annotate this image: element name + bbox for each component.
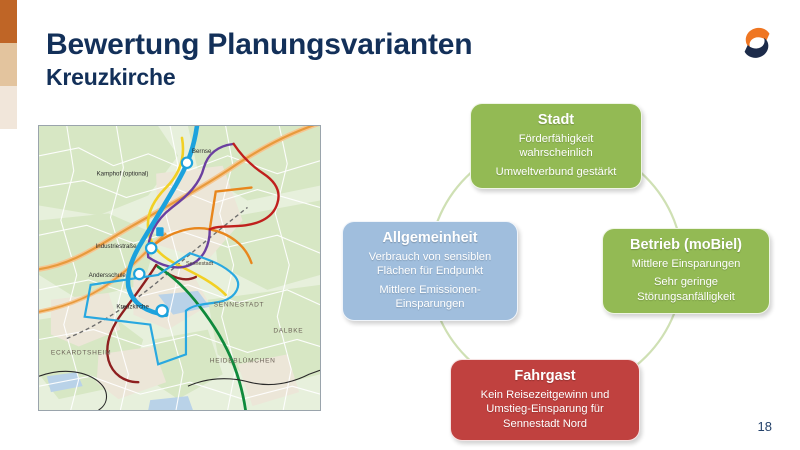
node-allgemeinheit-line1: Verbrauch von sensiblen Flächen für Endp… <box>353 250 507 279</box>
map-label-sennestadt-area: SENNESTADT <box>214 302 264 309</box>
map-label-bernse: Bernse <box>192 148 212 155</box>
map-label-dalbke: DALBKE <box>273 328 303 335</box>
map-graphic: Bernse Kamphof (optional) Industriestraß… <box>39 126 320 410</box>
node-fahrgast-line2-text: Umstieg-Einsparung für <box>486 403 604 415</box>
node-fahrgast-line1-text: Kein Reisezeitgewinn und <box>481 389 610 401</box>
node-allgemeinheit-line2-text: Flächen für Endpunkt <box>377 265 483 277</box>
accent-bar-tan <box>0 43 17 86</box>
map-label-industriestrasse: Industriestraße <box>96 243 138 250</box>
map-transit-marker <box>156 227 163 236</box>
node-betrieb[interactable]: Betrieb (moBiel) Mittlere Einsparungen S… <box>602 228 770 314</box>
route-map[interactable]: Bernse Kamphof (optional) Industriestraß… <box>38 125 321 411</box>
node-stadt-line3: Umweltverbund gestärkt <box>481 165 631 179</box>
page-subtitle: Kreuzkirche <box>46 64 472 92</box>
evaluation-diagram: Stadt Förderfähigkeit wahrscheinlich Umw… <box>330 95 785 440</box>
node-stadt-line1: Förderfähigkeit wahrscheinlich <box>481 132 631 161</box>
node-allgemeinheit[interactable]: Allgemeinheit Verbrauch von sensiblen Fl… <box>342 221 518 321</box>
map-label-kreuzkirche: Kreuzkirche <box>116 304 149 311</box>
company-s-logo-icon <box>736 22 778 64</box>
node-betrieb-line1: Mittlere Einsparungen <box>613 257 759 271</box>
node-allgemeinheit-line3-text: Mittlere Emissionen- <box>379 284 480 296</box>
map-label-eckardtsheim: ECKARDTSHEIM <box>51 349 111 356</box>
page-title: Bewertung Planungsvarianten <box>46 28 472 62</box>
node-fahrgast[interactable]: Fahrgast Kein Reisezeitgewinn und Umstie… <box>450 359 640 441</box>
accent-bar-cream <box>0 86 17 129</box>
slide-header: Bewertung Planungsvarianten Kreuzkirche <box>46 28 472 91</box>
node-fahrgast-title: Fahrgast <box>461 367 629 385</box>
map-label-heidebluemchen: HEIDEBLÜMCHEN <box>210 356 276 364</box>
node-betrieb-line3-text: Störungsanfälligkeit <box>637 291 735 303</box>
node-stadt-title: Stadt <box>481 111 631 129</box>
map-label-sennestadt-stop: Sennestadt <box>186 261 214 267</box>
node-betrieb-title: Betrieb (moBiel) <box>613 236 759 254</box>
node-stadt[interactable]: Stadt Förderfähigkeit wahrscheinlich Umw… <box>470 103 642 189</box>
node-betrieb-line2-text: Sehr geringe <box>654 276 718 288</box>
node-betrieb-line2: Sehr geringe Störungsanfälligkeit <box>613 275 759 304</box>
map-label-andersschule: Andersschule <box>89 272 127 279</box>
accent-bar-orange <box>0 0 17 43</box>
node-allgemeinheit-line1-text: Verbrauch von sensiblen <box>369 251 492 263</box>
map-label-kamphof: Kamphof (optional) <box>97 171 149 178</box>
node-stadt-line2-text: wahrscheinlich <box>519 147 592 159</box>
node-fahrgast-line3-text: Sennestadt Nord <box>503 418 587 430</box>
node-stadt-line1-text: Förderfähigkeit <box>519 133 594 145</box>
node-allgemeinheit-line2: Mittlere Emissionen- Einsparungen <box>353 283 507 312</box>
node-fahrgast-lines: Kein Reisezeitgewinn und Umstieg-Einspar… <box>461 388 629 431</box>
node-allgemeinheit-title: Allgemeinheit <box>353 229 507 247</box>
node-allgemeinheit-line4-text: Einsparungen <box>395 298 464 310</box>
